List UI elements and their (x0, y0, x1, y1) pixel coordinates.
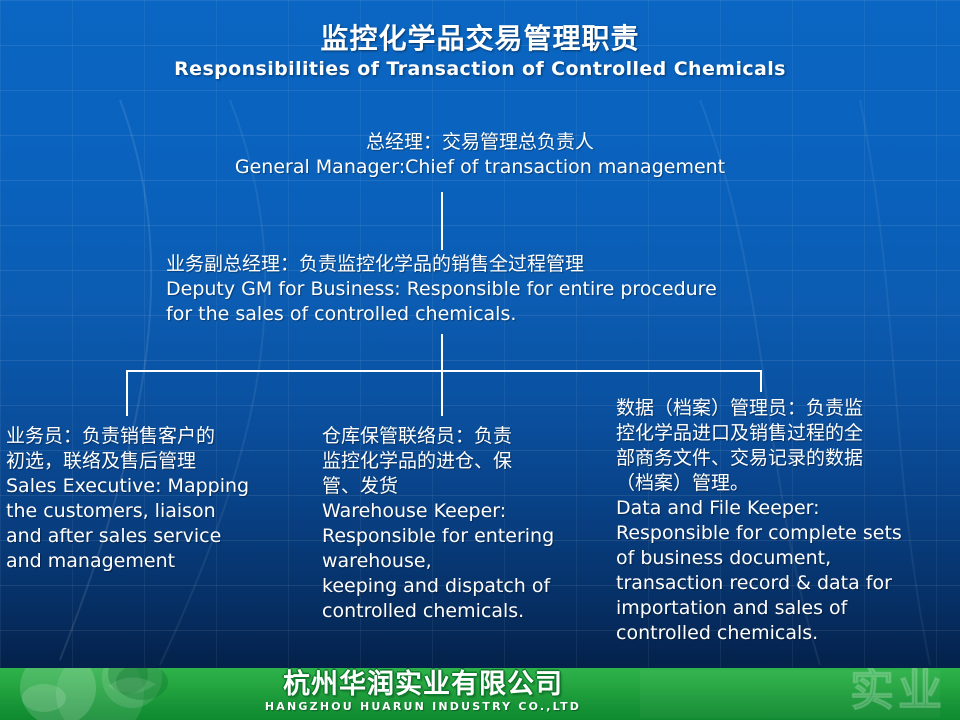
node-general-manager-cn: 总经理：交易管理总负责人 (150, 130, 810, 155)
node-deputy-gm-cn: 业务副总经理：负责监控化学品的销售全过程管理 (166, 252, 846, 277)
connector-gm-to-deputy (441, 192, 443, 250)
node-deputy-gm: 业务副总经理：负责监控化学品的销售全过程管理 Deputy GM for Bus… (166, 252, 846, 327)
page-title: 监控化学品交易管理职责 Responsibilities of Transact… (0, 22, 960, 82)
connector-branch-data (760, 370, 762, 392)
node-warehouse-keeper-cn: 仓库保管联络员：负责 监控化学品的进仓、保 管、发货 (322, 424, 604, 499)
node-data-file-keeper-en: Data and File Keeper: Responsible for co… (616, 496, 958, 646)
node-general-manager-en: General Manager:Chief of transaction man… (150, 155, 810, 180)
node-sales-executive-cn: 业务员：负责销售客户的 初选，联络及售后管理 (6, 424, 298, 474)
connector-horizontal-bus (126, 370, 762, 372)
page-title-en: Responsibilities of Transaction of Contr… (0, 56, 960, 82)
company-logo: 杭州华润实业有限公司 HANGZHOU HUARUN INDUSTRY CO.,… (188, 670, 658, 718)
node-warehouse-keeper-en: Warehouse Keeper: Responsible for enteri… (322, 499, 604, 624)
page-title-cn: 监控化学品交易管理职责 (0, 22, 960, 56)
connector-branch-sales (126, 370, 128, 416)
node-data-file-keeper-cn: 数据（档案）管理员：负责监 控化学品进口及销售过程的全 部商务文件、交易记录的数… (616, 396, 958, 496)
node-general-manager: 总经理：交易管理总负责人 General Manager:Chief of tr… (150, 130, 810, 180)
node-data-file-keeper: 数据（档案）管理员：负责监 控化学品进口及销售过程的全 部商务文件、交易记录的数… (616, 396, 958, 646)
slide-canvas: 监控化学品交易管理职责 Responsibilities of Transact… (0, 0, 960, 720)
company-logo-en: HANGZHOU HUARUN INDUSTRY CO.,LTD (188, 700, 658, 714)
node-sales-executive-en: Sales Executive: Mapping the customers, … (6, 474, 298, 574)
footer-logo-watermark: 实业 (850, 668, 946, 716)
footer-banner: 实业 杭州华润实业有限公司 HANGZHOU HUARUN INDUSTRY C… (0, 668, 960, 720)
node-warehouse-keeper: 仓库保管联络员：负责 监控化学品的进仓、保 管、发货 Warehouse Kee… (322, 424, 604, 624)
connector-branch-warehouse (441, 370, 443, 416)
connector-deputy-to-bus (441, 334, 443, 371)
company-logo-cn: 杭州华润实业有限公司 (188, 670, 658, 700)
node-deputy-gm-en: Deputy GM for Business: Responsible for … (166, 277, 846, 327)
node-sales-executive: 业务员：负责销售客户的 初选，联络及售后管理 Sales Executive: … (6, 424, 298, 574)
